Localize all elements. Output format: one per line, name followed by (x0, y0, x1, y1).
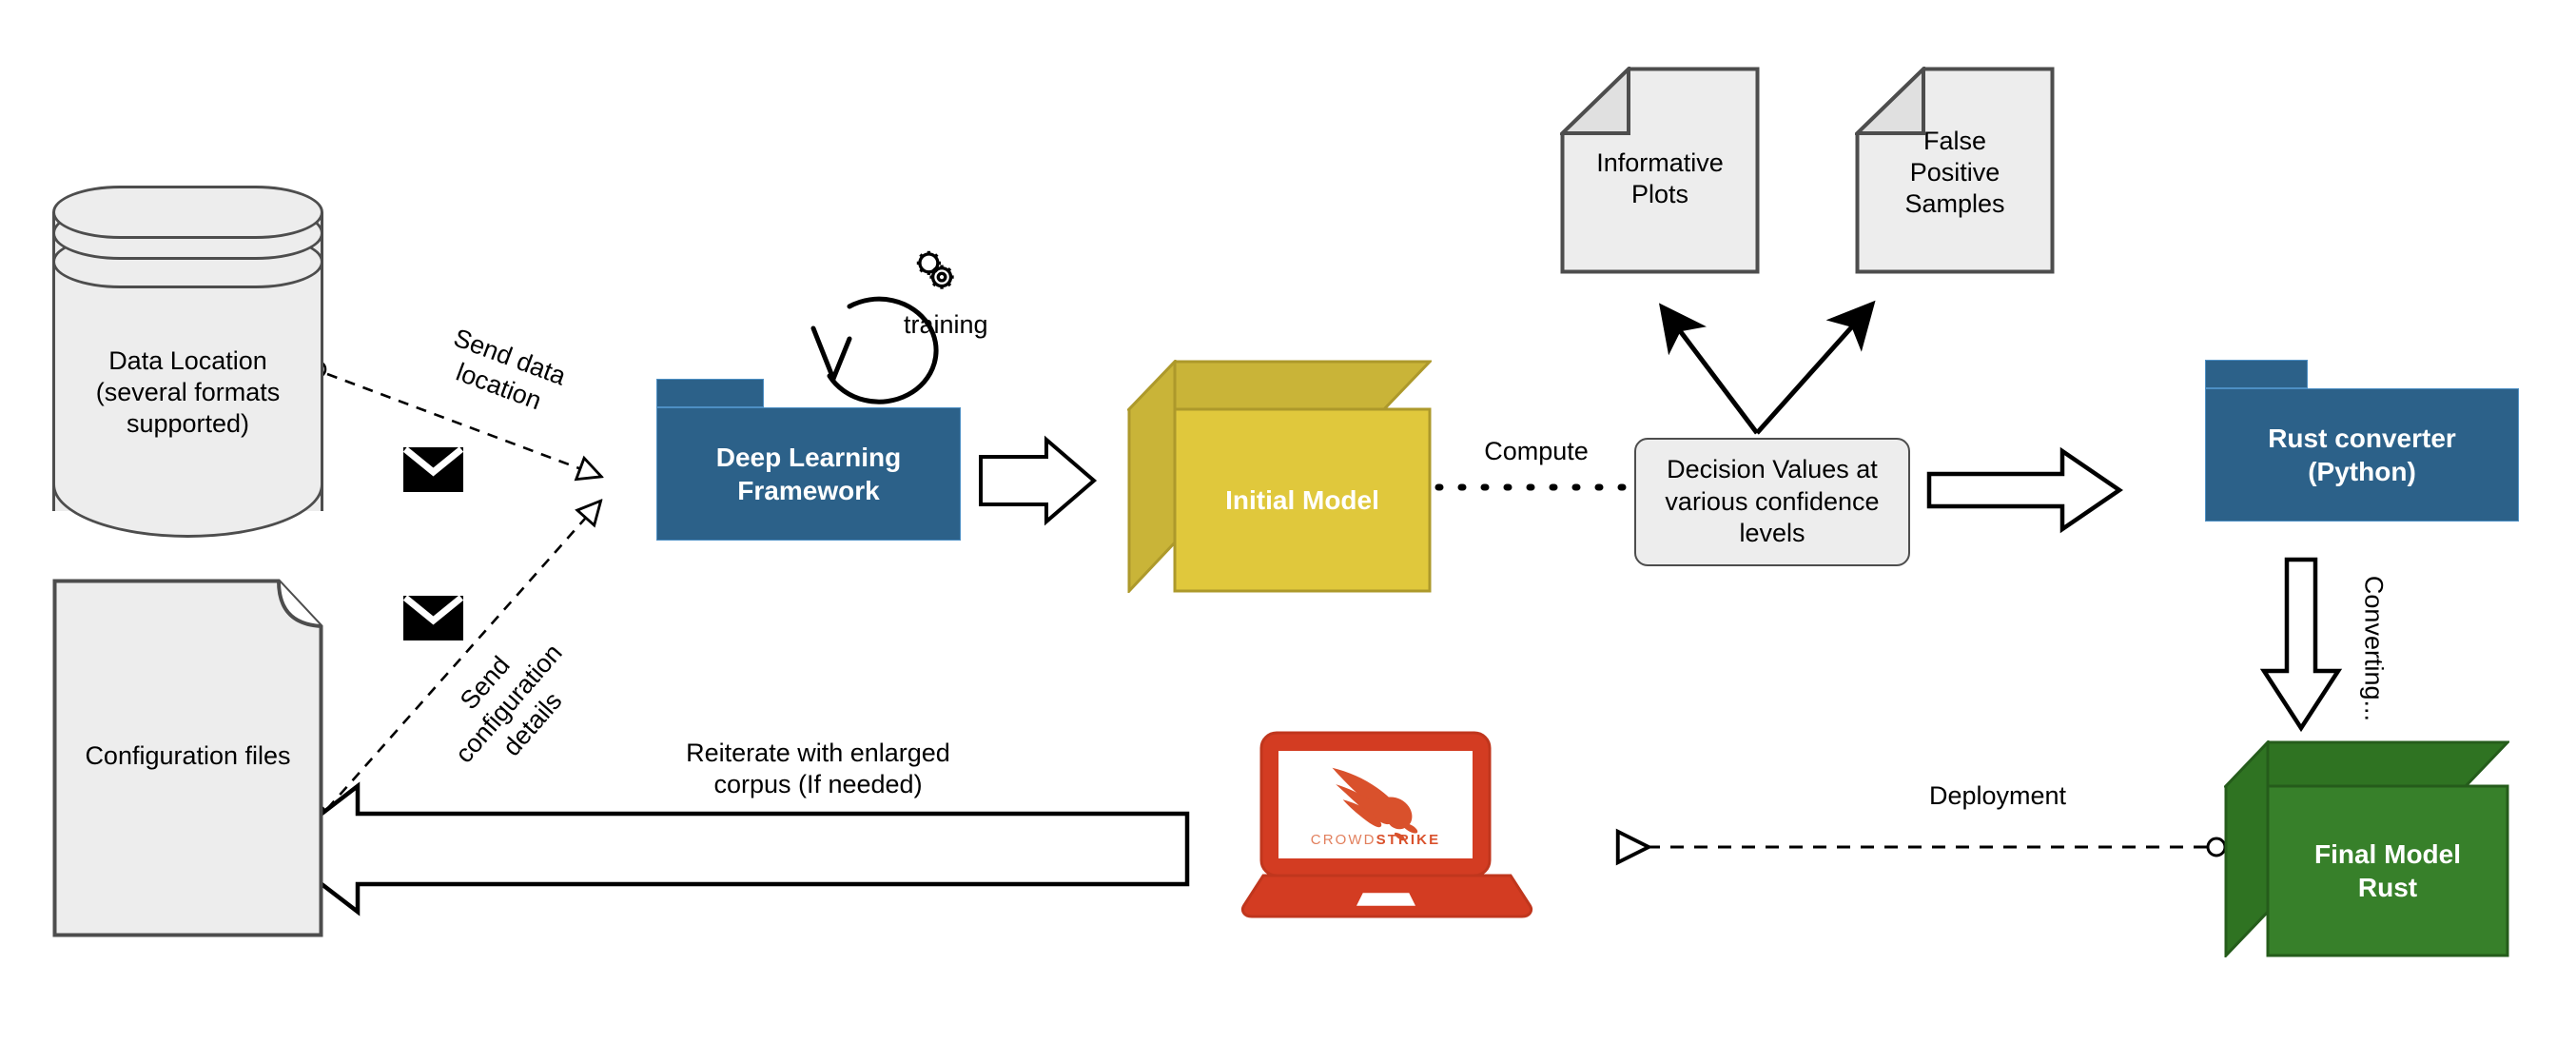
edge-training-loop-label: training (904, 309, 1037, 341)
node-initial-model[interactable]: Initial Model (1127, 360, 1432, 593)
package-body: Deep Learning Framework (656, 407, 961, 541)
node-false-positive-samples-label: False Positive Samples (1855, 126, 2055, 220)
node-configuration-files-label: Configuration files (52, 740, 323, 772)
laptop-shape: CROWDSTRIKE (1237, 728, 1570, 942)
envelope-icon-bottom (403, 596, 463, 640)
node-configuration-files[interactable]: Configuration files (52, 579, 323, 937)
package-tab (656, 379, 764, 407)
edge-converting-label: Converting... (2358, 553, 2390, 743)
edge-framework-to-model (981, 440, 1094, 522)
edge-deployment-label: Deployment (1893, 780, 2102, 812)
svg-text:CROWDSTRIKE: CROWDSTRIKE (1311, 832, 1440, 848)
edge-compute-label: Compute (1451, 436, 1622, 467)
package-body: Rust converter (Python) (2205, 388, 2519, 522)
cylinder-bottom (52, 484, 323, 538)
edge-reiterate (276, 786, 1187, 912)
envelope-icon-top (403, 447, 463, 492)
cylinder-top (52, 186, 323, 239)
node-informative-plots-label: Informative Plots (1560, 148, 1760, 210)
node-rust-converter-label: Rust converter (Python) (2268, 422, 2456, 488)
node-initial-model-label: Initial Model (1175, 409, 1430, 591)
node-data-location-label: Data Location (several formats supported… (52, 345, 323, 440)
package-tab (2205, 360, 2308, 388)
diagram-canvas: Data Location (several formats supported… (0, 0, 2576, 1064)
edge-decision-to-converter (1929, 451, 2119, 529)
node-false-positive-samples[interactable]: False Positive Samples (1855, 67, 2055, 274)
node-decision-values-label: Decision Values at various confidence le… (1665, 454, 1879, 549)
node-final-model-rust-label: Final Model Rust (2268, 786, 2508, 956)
node-rust-converter[interactable]: Rust converter (Python) (2205, 360, 2519, 522)
node-decision-values[interactable]: Decision Values at various confidence le… (1634, 438, 1910, 566)
node-deep-learning-framework-label: Deep Learning Framework (716, 441, 901, 507)
edge-reiterate-label: Reiterate with enlarged corpus (If neede… (666, 738, 970, 800)
edge-to-false-positive-samples (1757, 306, 1870, 433)
gear-icon (917, 251, 954, 289)
node-deep-learning-framework[interactable]: Deep Learning Framework (656, 379, 961, 541)
node-data-location[interactable]: Data Location (several formats supported… (52, 186, 323, 538)
laptop-logo-text-light: CROWD (1311, 832, 1376, 848)
edge-to-informative-plots (1664, 309, 1757, 433)
edge-converting (2264, 560, 2338, 728)
laptop-logo-text-bold: STRIKE (1376, 832, 1441, 848)
node-informative-plots[interactable]: Informative Plots (1560, 67, 1760, 274)
node-final-model-rust[interactable]: Final Model Rust (2224, 740, 2509, 957)
node-deployment-laptop[interactable]: CROWDSTRIKE (1237, 728, 1570, 942)
edge-deployment (1646, 838, 2225, 856)
